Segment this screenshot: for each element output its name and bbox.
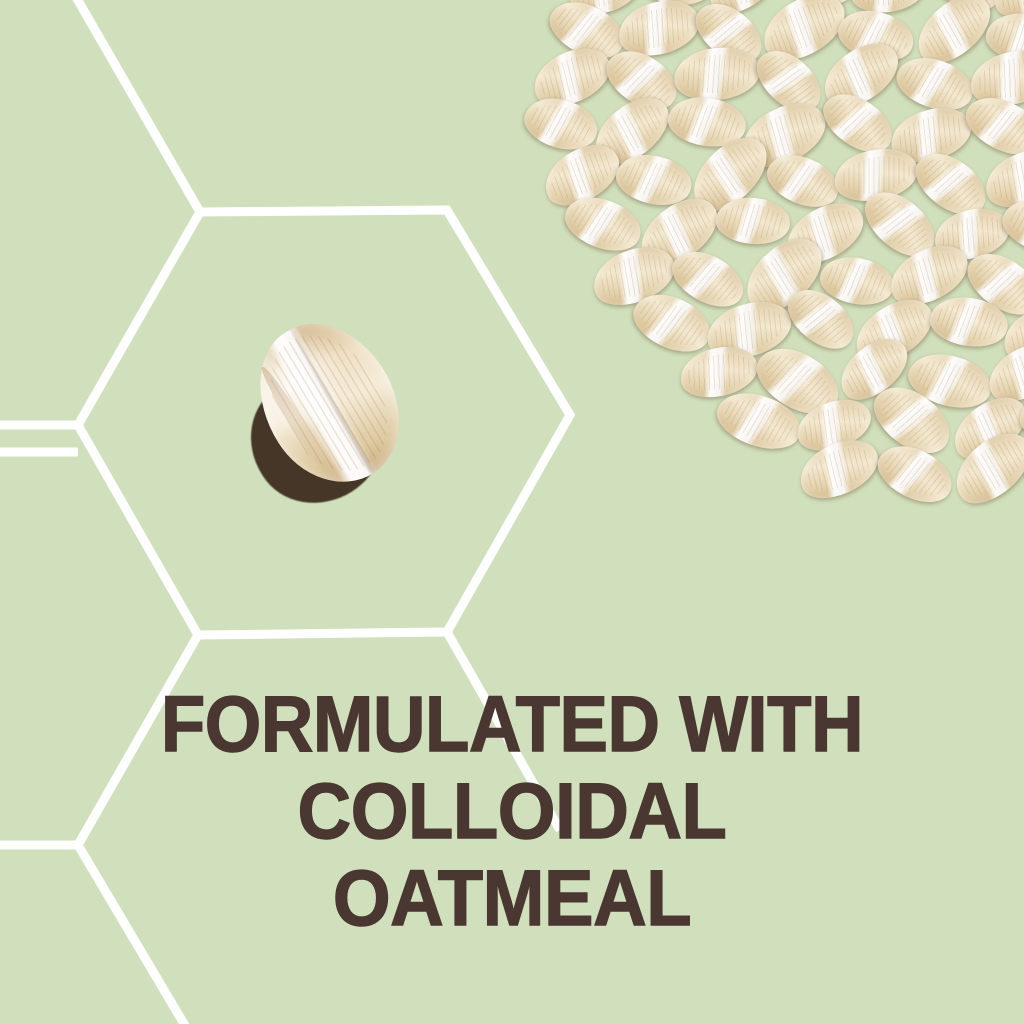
headline-line-2: COLLOIDAL [31,773,994,849]
headline-line-3: OATMEAL [31,860,994,936]
headline-line-1: FORMULATED WITH [41,686,983,762]
rolled-oats-pile [520,0,1024,520]
hexagon-edge-top-left [72,0,200,212]
single-oat-flake [243,312,411,512]
marketing-banner: FORMULATED WITH COLLOIDAL OATMEAL [0,0,1024,1024]
headline: FORMULATED WITH COLLOIDAL OATMEAL [0,686,1024,935]
